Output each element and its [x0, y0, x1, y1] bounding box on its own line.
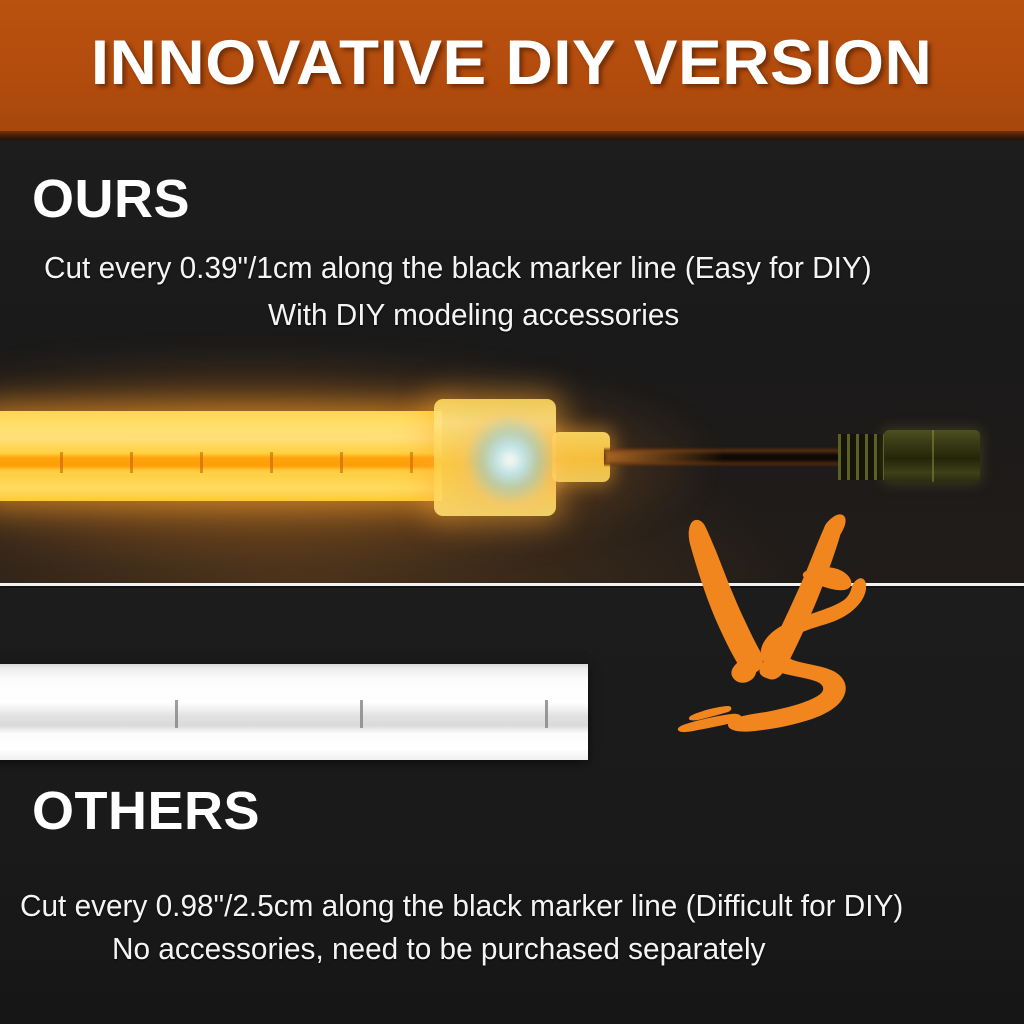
others-heading: OTHERS [32, 784, 260, 838]
ours-description-line-2: With DIY modeling accessories [268, 299, 679, 330]
led-strip-lit-icon-cut-marks [0, 452, 442, 473]
others-description-line-2: No accessories, need to be purchased sep… [112, 933, 765, 964]
vs-brush-icon [676, 508, 866, 736]
led-strip-unlit-icon-cut-marks [0, 700, 588, 728]
banner-title: INNOVATIVE DIY VERSION [91, 32, 933, 95]
header-banner: INNOVATIVE DIY VERSION [0, 0, 1024, 131]
dc-barrel-connector-icon-rings [838, 434, 884, 480]
banner-bottom-shadow [0, 131, 1024, 140]
section-divider [0, 583, 1024, 586]
ours-heading: OURS [32, 172, 190, 226]
ours-description-line-1: Cut every 0.39"/1cm along the black mark… [44, 252, 872, 283]
dc-barrel-connector-seam [932, 430, 934, 482]
others-description-line-1: Cut every 0.98"/2.5cm along the black ma… [20, 890, 903, 921]
infographic-canvas: INNOVATIVE DIY VERSION OURS Cut every 0.… [0, 0, 1024, 1024]
led-spot-icon [456, 410, 576, 510]
power-cable-highlight [604, 451, 724, 463]
